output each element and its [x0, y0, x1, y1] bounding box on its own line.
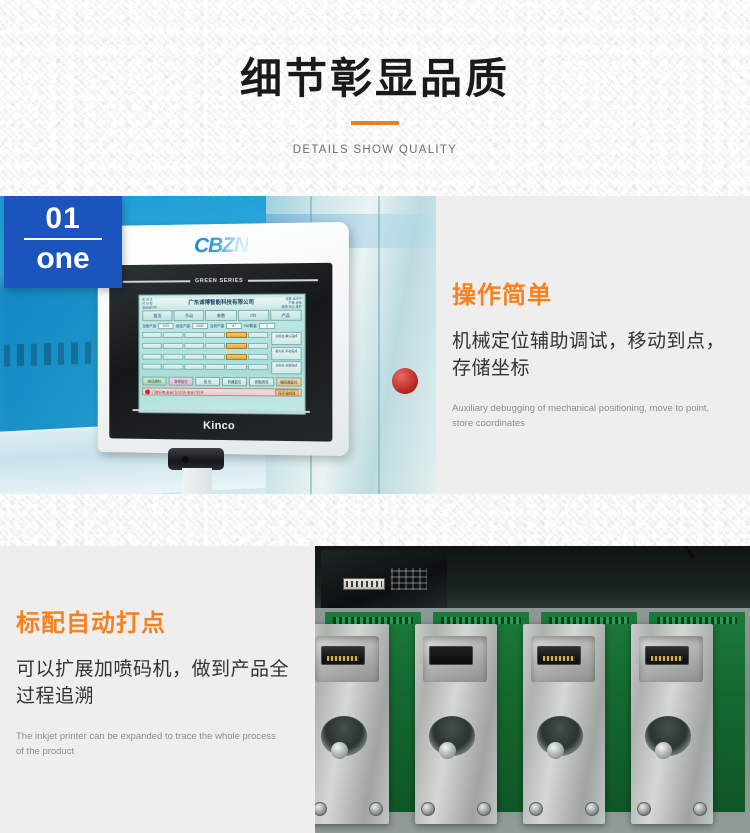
- fixture-bolt: [421, 802, 435, 816]
- grid-cell[interactable]: [205, 354, 225, 360]
- grid-cell[interactable]: [248, 354, 268, 360]
- grid-cell[interactable]: [248, 343, 268, 349]
- bottom-button-encoder-reset[interactable]: 编码器复位: [276, 377, 301, 386]
- kinco-brand-label: Kinco: [109, 419, 332, 434]
- feature-one-description: 机械定位辅助调试，移动到点，存储坐标: [452, 328, 732, 383]
- section-badge-one: 01 one: [4, 196, 122, 288]
- aluminum-test-fixture: [415, 624, 497, 824]
- alarm-message: 门控开电 安全门已打开 安全门打开: [152, 389, 204, 394]
- field-label-current-output: 当前产量: [210, 324, 224, 329]
- fixture-bolt-row: [637, 802, 707, 816]
- hmi-mount-post: [182, 468, 212, 494]
- screen-field-row: 当前产品 1001 设定产量 3000 当前产量 87 NG数量 3: [142, 323, 301, 329]
- side-button-picker-done[interactable]: 取片机 手动完成: [271, 347, 301, 360]
- grid-cell-warn[interactable]: [226, 343, 246, 349]
- screen-bottom-buttons[interactable]: 自动清料 急停复位 复 位 机器复位 抓取清洗 编码器复位: [142, 377, 301, 387]
- feature-two-english: The inkjet printer can be expanded to tr…: [16, 730, 276, 759]
- grid-cell[interactable]: [184, 343, 204, 349]
- vent-grid: [391, 568, 427, 590]
- pcb-pin-header: [657, 617, 737, 624]
- grid-cell[interactable]: [142, 343, 162, 349]
- grid-cell[interactable]: [205, 343, 225, 349]
- field-label-ng-count: NG数量: [244, 323, 257, 328]
- screen-tab-params[interactable]: 参数: [206, 310, 237, 321]
- fixture-bolt: [693, 802, 707, 816]
- grid-cell-warn[interactable]: [226, 332, 246, 338]
- screen-corner-left-info: 年 月 日时 分 秒自动运行中: [142, 298, 157, 309]
- grid-cell-warn[interactable]: [226, 354, 246, 360]
- field-value-ng-count[interactable]: 3: [259, 323, 275, 329]
- screen-status-grid[interactable]: [142, 332, 268, 374]
- fixture-bolt-row: [315, 802, 383, 816]
- screen-company-title: 广东诚博智能科技有限公司: [142, 298, 301, 309]
- board-connector: [645, 646, 689, 665]
- grid-cell[interactable]: [142, 332, 162, 338]
- pcb-pin-header: [549, 617, 629, 624]
- field-value-current-product[interactable]: 1001: [158, 323, 174, 329]
- screen-tab-manual[interactable]: 手动: [174, 310, 205, 321]
- grid-cell[interactable]: [142, 353, 162, 359]
- aluminum-test-fixture: [631, 624, 713, 824]
- series-bar-left: [123, 280, 190, 283]
- fixture-bolt: [529, 802, 543, 816]
- board-connector: [537, 646, 581, 665]
- fixture-bolt-row: [529, 802, 599, 816]
- grid-cell[interactable]: [163, 364, 183, 370]
- hmi-enclosure: CBZN GREEN SERIES 年 月 日时 分 秒自动运行中 设备 运行中…: [98, 222, 349, 456]
- field-label-current-product: 当前产品: [142, 324, 156, 329]
- grid-cell[interactable]: [163, 353, 183, 359]
- grid-cell[interactable]: [248, 364, 268, 370]
- bottom-button-pick-clean[interactable]: 抓取清洗: [249, 377, 274, 386]
- hmi-touch-panel-photo: CBZN GREEN SERIES 年 月 日时 分 秒自动运行中 设备 运行中…: [0, 196, 436, 494]
- alarm-indicator-icon: [145, 389, 150, 394]
- test-fixture-array-photo: 02 two: [315, 546, 750, 833]
- hmi-bezel: GREEN SERIES 年 月 日时 分 秒自动运行中 设备 运行中产量 合格…: [109, 263, 332, 442]
- fixture-bolt: [585, 802, 599, 816]
- board-connector: [321, 646, 365, 665]
- fixture-center-screw: [331, 742, 348, 759]
- dip-switch-bank: [343, 578, 385, 590]
- board-connector-empty: [429, 646, 473, 665]
- feature-section-two: 标配自动打点 可以扩展加喷码机，做到产品全过程追溯 The inkjet pri…: [0, 546, 750, 833]
- series-label-text: GREEN SERIES: [195, 278, 243, 284]
- bottom-button-estop-reset[interactable]: 急停复位: [169, 377, 194, 386]
- screen-tab-product[interactable]: 产品: [270, 310, 302, 321]
- field-value-target-output[interactable]: 3000: [192, 323, 208, 329]
- pcb-pin-header: [333, 617, 413, 624]
- screen-tab-io[interactable]: I/O: [238, 310, 269, 321]
- grid-cell[interactable]: [248, 332, 268, 338]
- page-subtitle: DETAILS SHOW QUALITY: [0, 144, 750, 156]
- bottom-button-reset[interactable]: 复 位: [195, 377, 220, 386]
- grid-cell[interactable]: [163, 332, 183, 338]
- bottom-button-auto-clean[interactable]: 自动清料: [142, 377, 166, 386]
- aluminum-test-fixture: [523, 624, 605, 824]
- emergency-stop-knob: [392, 368, 418, 394]
- grid-cell[interactable]: [205, 364, 225, 370]
- field-label-target-output: 设定产量: [176, 324, 190, 329]
- fixture-bolt: [315, 802, 327, 816]
- badge-word: one: [4, 242, 122, 275]
- feature-one-text-panel: 操作简单 机械定位辅助调试，移动到点，存储坐标 Auxiliary debugg…: [436, 196, 750, 494]
- hmi-mount-collar: [168, 448, 224, 470]
- title-divider: [351, 121, 399, 125]
- grid-cell[interactable]: [184, 353, 204, 359]
- side-button-main-confirm[interactable]: 主机台 确认完成: [271, 332, 301, 345]
- bottom-button-machine-reset[interactable]: 机器复位: [222, 377, 247, 386]
- screen-alarm-bar: 门控开电 安全门已打开 安全门打开 程序编辑器: [142, 387, 301, 396]
- grid-cell[interactable]: [205, 332, 225, 338]
- screen-tab-bar[interactable]: 首页 手动 参数 I/O 产品: [142, 310, 301, 322]
- screen-body: 主机台 确认完成 取片机 手动完成 主机台 清除完成: [142, 332, 301, 374]
- cbzn-logo: CBZN: [194, 234, 248, 259]
- fixture-center-screw: [655, 742, 672, 759]
- side-button-clear-done[interactable]: 主机台 清除完成: [271, 361, 301, 374]
- fixture-bolt-row: [421, 802, 491, 816]
- grid-cell[interactable]: [184, 332, 204, 338]
- feature-two-text-panel: 标配自动打点 可以扩展加喷码机，做到产品全过程追溯 The inkjet pri…: [0, 546, 315, 833]
- grid-cell[interactable]: [163, 343, 183, 349]
- feature-section-one: CBZN GREEN SERIES 年 月 日时 分 秒自动运行中 设备 运行中…: [0, 196, 750, 494]
- fixture-center-screw: [439, 742, 456, 759]
- badge-divider: [24, 238, 102, 240]
- feature-two-title: 标配自动打点: [16, 610, 297, 639]
- aluminum-test-fixture: [315, 624, 389, 824]
- screen-tab-home[interactable]: 首页: [142, 310, 173, 321]
- fixture-bolt: [477, 802, 491, 816]
- fixture-center-screw: [547, 742, 564, 759]
- pcb-pin-header: [441, 617, 521, 624]
- feature-two-description: 可以扩展加喷码机，做到产品全过程追溯: [16, 656, 296, 711]
- page-title: 细节彰显品质: [0, 55, 750, 103]
- hmi-screen[interactable]: 年 月 日时 分 秒自动运行中 设备 运行中产量 合格报警 停止 维护 广东诚博…: [138, 293, 305, 414]
- grid-cell[interactable]: [142, 364, 162, 370]
- feature-one-title: 操作简单: [452, 282, 750, 311]
- green-series-label: GREEN SERIES: [123, 274, 318, 288]
- screen-corner-right-info: 设备 运行中产量 合格报警 停止 维护: [282, 298, 302, 309]
- feature-one-english: Auxiliary debugging of mechanical positi…: [452, 402, 712, 431]
- grid-cell[interactable]: [226, 364, 246, 370]
- fixture-bolt: [637, 802, 651, 816]
- alarm-tag: 程序编辑器: [275, 389, 298, 396]
- screen-side-buttons[interactable]: 主机台 确认完成 取片机 手动完成 主机台 清除完成: [271, 332, 301, 374]
- grid-cell[interactable]: [184, 364, 204, 370]
- fixture-bolt: [369, 802, 383, 816]
- series-bar-right: [248, 279, 318, 282]
- page-header: 细节彰显品质 DETAILS SHOW QUALITY: [0, 0, 750, 156]
- field-value-current-output[interactable]: 87: [226, 323, 242, 329]
- controller-housing: [321, 550, 447, 612]
- badge-number: 01: [4, 202, 122, 235]
